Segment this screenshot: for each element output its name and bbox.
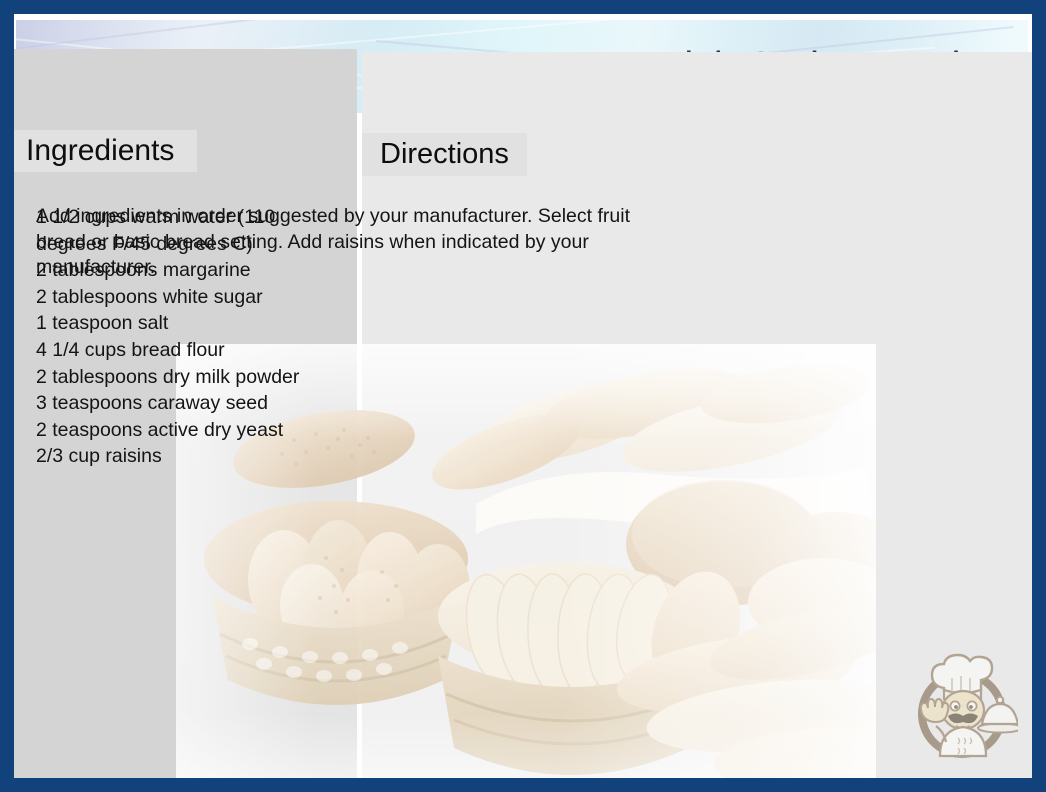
directions-heading: Directions (362, 138, 509, 171)
list-item: 1 teaspoon salt (36, 310, 346, 337)
slide-frame: Irish Soda Bread III (0, 0, 1046, 792)
chef-logo-icon (906, 648, 1018, 758)
ingredients-heading-tab: Ingredients (14, 130, 197, 172)
list-item: 2 tablespoons white sugar (36, 284, 346, 311)
directions-heading-tab: Directions (362, 133, 527, 176)
directions-text: Add ingredients in order suggested by yo… (36, 204, 656, 281)
list-item: 2 tablespoons dry milk powder (36, 364, 346, 391)
chef-logo-graphic (906, 648, 1018, 758)
list-item: 2 teaspoons active dry yeast (36, 417, 346, 444)
list-item: 3 teaspoons caraway seed (36, 390, 346, 417)
slide-content-area: Irish Soda Bread III (14, 14, 1032, 778)
ingredients-heading: Ingredients (14, 134, 174, 168)
list-item: 2/3 cup raisins (36, 443, 346, 470)
list-item: 4 1/4 cups bread flour (36, 337, 346, 364)
